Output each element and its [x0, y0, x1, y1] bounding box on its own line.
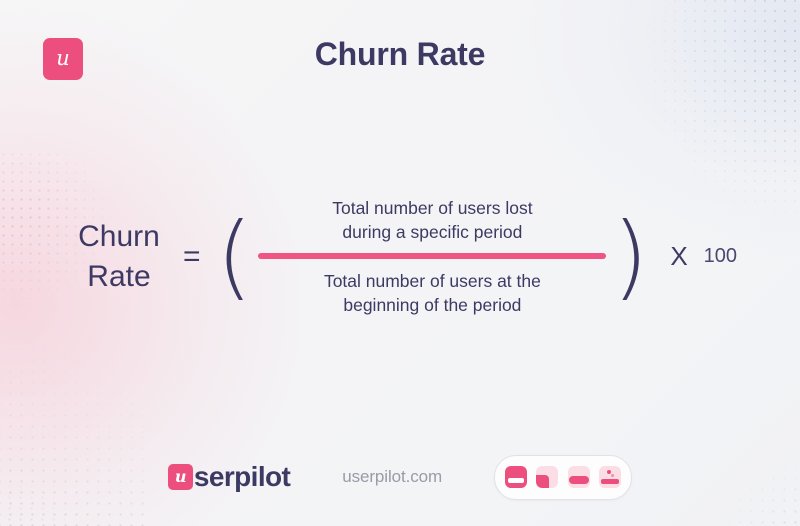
modal-pattern-icon[interactable] [505, 466, 527, 488]
open-paren: ( [217, 223, 253, 291]
checklist-spark-secondary-icon [611, 474, 614, 477]
multiplication-sign: X [670, 241, 687, 272]
fraction-bar [258, 253, 606, 259]
wordmark-text: serpilot [194, 461, 290, 493]
pattern-icon-pill [494, 455, 632, 500]
fraction: Total number of users lost during a spec… [258, 196, 606, 318]
userpilot-wordmark: u serpilot [168, 461, 290, 493]
equals-sign: = [183, 240, 201, 274]
banner-pattern-icon[interactable] [568, 466, 590, 488]
wordmark-logo-glyph: u [175, 469, 186, 485]
page-title: Churn Rate [0, 36, 800, 73]
churn-rate-infographic-card: u Churn Rate Churn Rate = ( Total number… [0, 0, 800, 526]
formula-row: Churn Rate = ( Total number of users los… [0, 196, 800, 318]
slideout-pattern-icon[interactable] [536, 466, 558, 488]
fraction-numerator: Total number of users lost during a spec… [332, 196, 532, 244]
wordmark-logo-icon: u [168, 464, 193, 490]
multiplier-value: 100 [704, 245, 737, 268]
site-url: userpilot.com [342, 467, 442, 487]
fraction-denominator: Total number of users at the beginning o… [324, 269, 541, 317]
footer: u serpilot userpilot.com [0, 446, 800, 508]
checklist-pattern-icon[interactable] [599, 466, 621, 488]
close-paren: ) [612, 223, 648, 291]
formula-left-label: Churn Rate [63, 217, 175, 296]
